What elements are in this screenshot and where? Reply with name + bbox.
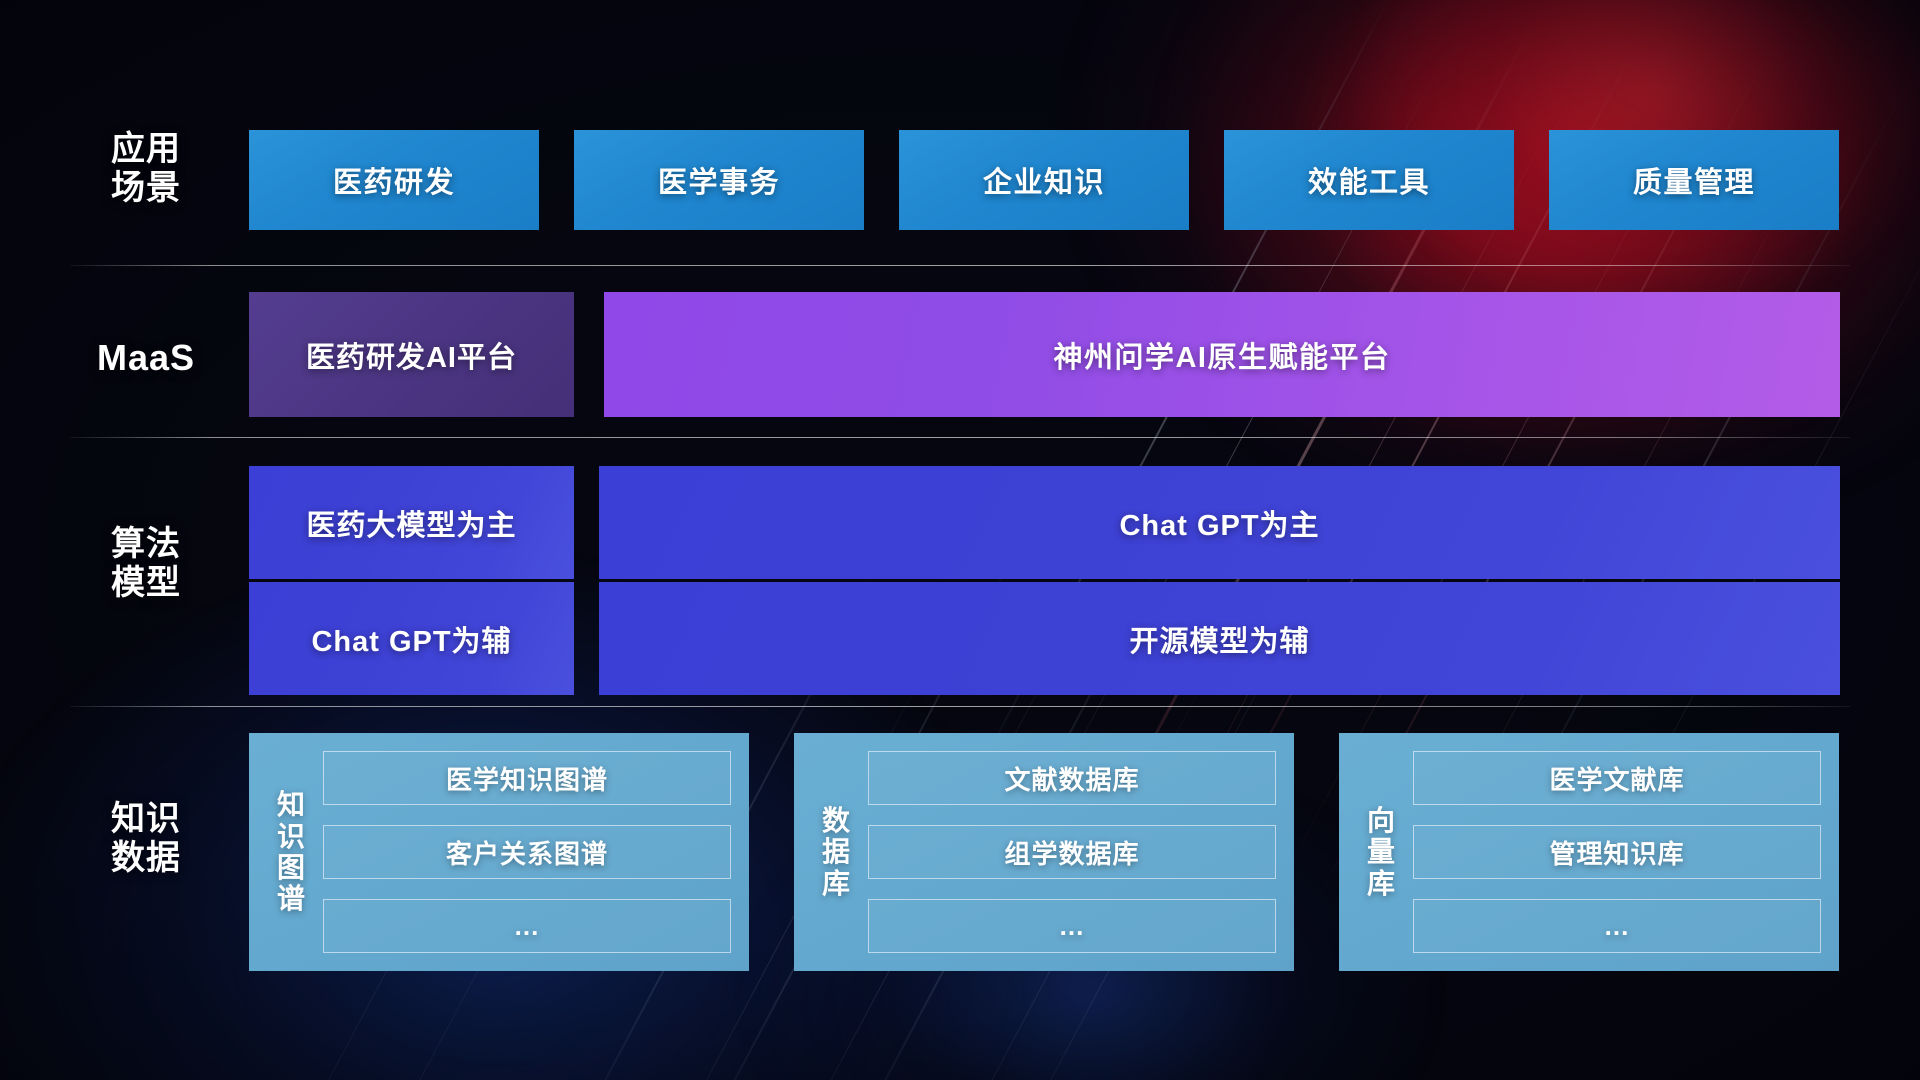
divider-after-maas — [70, 437, 1850, 438]
row-label-line: 应用 — [78, 130, 214, 169]
algo-box-row0-right[interactable]: Chat GPT为主 — [599, 466, 1840, 579]
vertical-label-char: 据 — [804, 836, 868, 867]
maas-box-pharma-ai-platform[interactable]: 医药研发AI平台 — [249, 292, 574, 417]
vertical-label-char: 库 — [804, 868, 868, 899]
row-label-algorithm-model: 算法 模型 — [78, 525, 214, 603]
row-label-application-scenarios: 应用 场景 — [78, 130, 214, 208]
knowledge-chip-list: 医学知识图谱 客户关系图谱 ... — [323, 751, 731, 953]
vertical-label-char: 库 — [1349, 868, 1413, 899]
app-box-3[interactable]: 效能工具 — [1224, 130, 1514, 230]
knowledge-chip-list: 文献数据库 组学数据库 ... — [868, 751, 1276, 953]
knowledge-group-database[interactable]: 数 据 库 文献数据库 组学数据库 ... — [794, 733, 1294, 971]
knowledge-group-vertical-label: 向 量 库 — [1349, 805, 1413, 899]
knowledge-group-knowledge-graph[interactable]: 知 识 图 谱 医学知识图谱 客户关系图谱 ... — [249, 733, 749, 971]
vertical-label-char: 向 — [1349, 805, 1413, 836]
knowledge-chip[interactable]: 医学知识图谱 — [323, 751, 731, 805]
vertical-label-char: 数 — [804, 805, 868, 836]
algo-box-row1-left[interactable]: Chat GPT为辅 — [249, 582, 574, 695]
app-box-2[interactable]: 企业知识 — [899, 130, 1189, 230]
row-label-maas: MaaS — [78, 337, 214, 378]
knowledge-chip[interactable]: 医学文献库 — [1413, 751, 1821, 805]
knowledge-chip[interactable]: ... — [1413, 899, 1821, 953]
row-label-line: 场景 — [78, 169, 214, 208]
knowledge-chip[interactable]: 管理知识库 — [1413, 825, 1821, 879]
row-label-knowledge-data: 知识 数据 — [78, 800, 214, 878]
knowledge-chip-list: 医学文献库 管理知识库 ... — [1413, 751, 1821, 953]
app-box-4[interactable]: 质量管理 — [1549, 130, 1839, 230]
app-box-1[interactable]: 医学事务 — [574, 130, 864, 230]
knowledge-group-vector-store[interactable]: 向 量 库 医学文献库 管理知识库 ... — [1339, 733, 1839, 971]
knowledge-chip[interactable]: 客户关系图谱 — [323, 825, 731, 879]
knowledge-group-vertical-label: 知 识 图 谱 — [259, 789, 323, 914]
row-label-line: 算法 — [78, 525, 214, 564]
row-label-line: 数据 — [78, 839, 214, 878]
maas-box-enabling-platform[interactable]: 神州问学AI原生赋能平台 — [604, 292, 1840, 417]
vertical-label-char: 识 — [259, 821, 323, 852]
algo-box-row0-left[interactable]: 医药大模型为主 — [249, 466, 574, 579]
architecture-diagram: 应用 场景 医药研发 医学事务 企业知识 效能工具 质量管理 MaaS 医药研发… — [0, 0, 1920, 1080]
vertical-label-char: 谱 — [259, 883, 323, 914]
algo-box-row1-right[interactable]: 开源模型为辅 — [599, 582, 1840, 695]
vertical-label-char: 图 — [259, 852, 323, 883]
divider-after-algorithms — [70, 706, 1850, 707]
knowledge-chip[interactable]: ... — [323, 899, 731, 953]
knowledge-chip[interactable]: 组学数据库 — [868, 825, 1276, 879]
knowledge-chip[interactable]: ... — [868, 899, 1276, 953]
vertical-label-char: 量 — [1349, 836, 1413, 867]
app-box-0[interactable]: 医药研发 — [249, 130, 539, 230]
vertical-label-char: 知 — [259, 789, 323, 820]
row-label-line: 模型 — [78, 564, 214, 603]
row-label-line: MaaS — [78, 337, 214, 378]
row-label-line: 知识 — [78, 800, 214, 839]
divider-after-applications — [70, 265, 1850, 266]
knowledge-group-vertical-label: 数 据 库 — [804, 805, 868, 899]
knowledge-chip[interactable]: 文献数据库 — [868, 751, 1276, 805]
